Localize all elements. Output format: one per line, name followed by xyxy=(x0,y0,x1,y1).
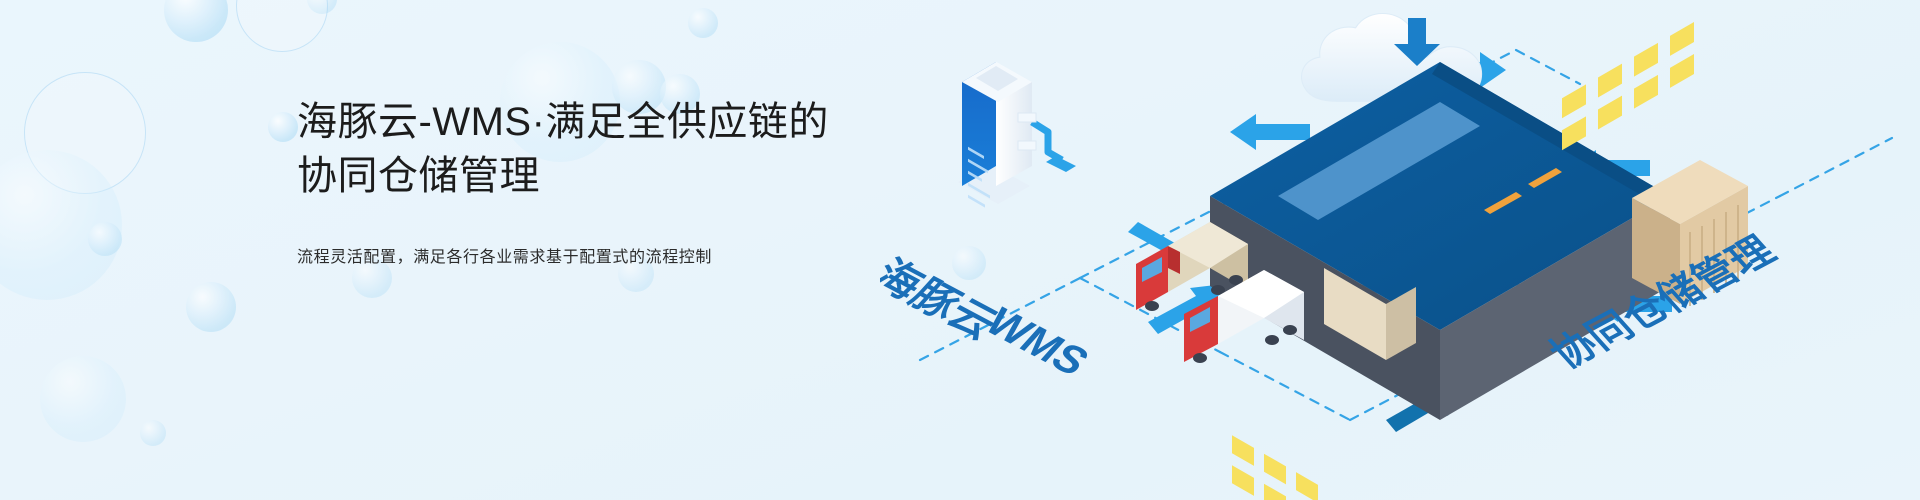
headline-line-2: 协同仓储管理 xyxy=(297,150,917,204)
hero-banner: 海豚云-WMS·满足全供应链的 协同仓储管理 流程灵活配置，满足各行各业需求基于… xyxy=(0,0,1920,500)
truck-white xyxy=(1184,270,1304,363)
decor-bubble xyxy=(88,222,122,256)
decor-bubble xyxy=(40,356,126,442)
decor-bubble xyxy=(164,0,228,42)
warehouse xyxy=(1210,22,1694,500)
decor-bubble xyxy=(186,282,236,332)
server-rack xyxy=(952,62,1076,500)
warehouse-illustration: 海豚云 WMS 协同仓储管理 xyxy=(880,0,1920,500)
page-title: 海豚云-WMS·满足全供应链的 协同仓储管理 xyxy=(297,96,917,203)
decor-bubble xyxy=(688,8,718,38)
decor-bubble xyxy=(140,420,166,446)
label-haitunyun-wms: 海豚云 WMS xyxy=(880,252,1098,384)
page-subtitle: 流程灵活配置，满足各行各业需求基于配置式的流程控制 xyxy=(297,243,917,267)
decor-bubble xyxy=(307,0,337,14)
hero-text-block: 海豚云-WMS·满足全供应链的 协同仓储管理 流程灵活配置，满足各行各业需求基于… xyxy=(297,96,917,267)
decor-bubble xyxy=(0,150,122,300)
headline-line-1: 海豚云-WMS·满足全供应链的 xyxy=(297,96,917,150)
decor-bubble xyxy=(24,72,146,194)
decor-bubble xyxy=(268,112,298,142)
decor-bubble xyxy=(236,0,328,52)
